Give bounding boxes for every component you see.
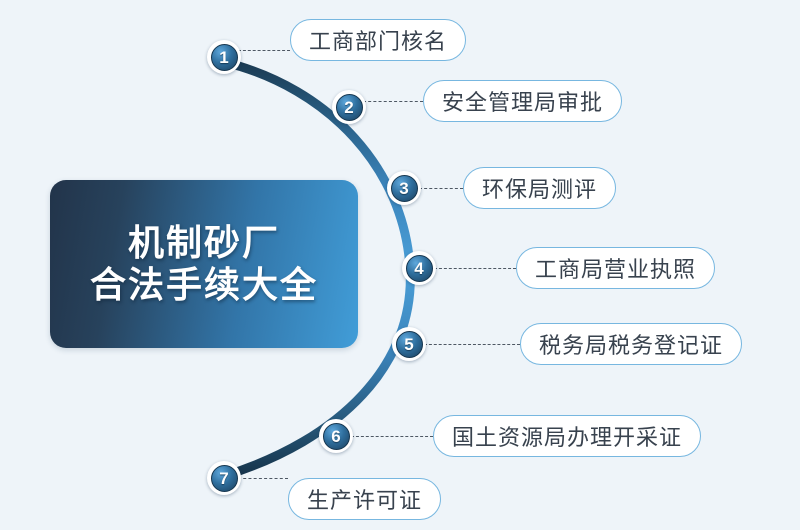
connector-5 xyxy=(424,344,520,345)
step-label-text-5: 税务局税务登记证 xyxy=(539,328,723,360)
badge-inner-7: 7 xyxy=(211,465,238,492)
step-badge-4[interactable]: 4 xyxy=(402,251,436,285)
step-label-text-1: 工商部门核名 xyxy=(309,24,447,56)
step-label-2[interactable]: 安全管理局审批 xyxy=(423,80,622,122)
step-label-text-2: 安全管理局审批 xyxy=(442,85,603,117)
connector-1 xyxy=(238,50,290,51)
title-line-1: 机制砂厂 xyxy=(128,222,280,264)
connector-6 xyxy=(351,436,433,437)
badge-inner-1: 1 xyxy=(211,44,238,71)
step-label-4[interactable]: 工商局营业执照 xyxy=(516,247,715,289)
step-label-6[interactable]: 国土资源局办理开采证 xyxy=(433,415,701,457)
step-label-text-6: 国土资源局办理开采证 xyxy=(452,420,682,452)
step-label-7[interactable]: 生产许可证 xyxy=(288,478,441,520)
step-badge-2[interactable]: 2 xyxy=(332,90,366,124)
badge-number-7: 7 xyxy=(219,470,228,487)
connector-7 xyxy=(238,478,288,479)
step-badge-5[interactable]: 5 xyxy=(392,327,426,361)
connector-2 xyxy=(363,101,423,102)
badge-number-1: 1 xyxy=(219,49,228,66)
step-label-3[interactable]: 环保局测评 xyxy=(463,167,616,209)
step-label-1[interactable]: 工商部门核名 xyxy=(290,19,466,61)
step-label-5[interactable]: 税务局税务登记证 xyxy=(520,323,742,365)
badge-inner-6: 6 xyxy=(323,423,350,450)
badge-number-3: 3 xyxy=(399,180,408,197)
step-badge-6[interactable]: 6 xyxy=(319,419,353,453)
badge-number-5: 5 xyxy=(404,336,413,353)
badge-inner-3: 3 xyxy=(391,175,418,202)
step-badge-3[interactable]: 3 xyxy=(387,171,421,205)
step-badge-7[interactable]: 7 xyxy=(207,461,241,495)
badge-number-6: 6 xyxy=(331,428,340,445)
connector-4 xyxy=(434,268,516,269)
infographic-canvas: 机制砂厂 合法手续大全 1 2 3 4 5 6 xyxy=(0,0,800,530)
step-label-text-7: 生产许可证 xyxy=(307,483,422,515)
title-card: 机制砂厂 合法手续大全 xyxy=(50,180,358,348)
badge-inner-2: 2 xyxy=(336,94,363,121)
badge-inner-5: 5 xyxy=(396,331,423,358)
badge-number-4: 4 xyxy=(414,260,423,277)
connector-3 xyxy=(419,188,463,189)
step-label-text-4: 工商局营业执照 xyxy=(535,252,696,284)
step-badge-1[interactable]: 1 xyxy=(207,40,241,74)
title-line-2: 合法手续大全 xyxy=(90,264,318,306)
badge-number-2: 2 xyxy=(344,99,353,116)
step-label-text-3: 环保局测评 xyxy=(482,172,597,204)
badge-inner-4: 4 xyxy=(406,255,433,282)
